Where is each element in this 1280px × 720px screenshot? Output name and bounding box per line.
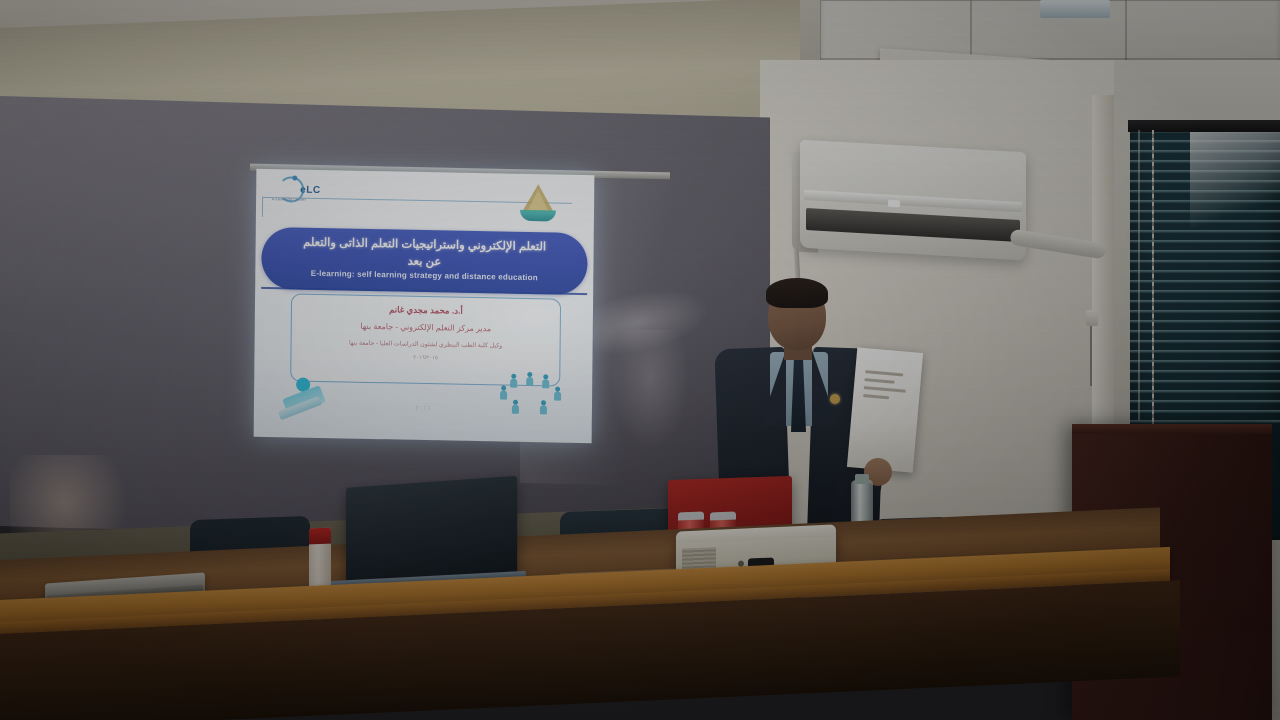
presenter-name: أ.د. محمد مجدي غانم [292, 302, 560, 318]
whiteboard-smudge [610, 330, 690, 450]
elc-logo-icon: eLC e-Learning Center [270, 175, 354, 209]
beverage-can-lid [309, 528, 331, 545]
wall-socket[interactable] [1086, 310, 1098, 326]
lecture-room-photo: eLC e-Learning Center التعلم الإلكتروني … [0, 0, 1280, 720]
blind-pull-cord[interactable] [1152, 130, 1154, 430]
benha-university-logo-icon [518, 182, 558, 225]
elc-logo-text: eLC [300, 185, 321, 196]
presenter-affiliation: وكيل كلية الطب البيطري لشئون الدراسات ال… [292, 338, 560, 350]
bottle-cap [855, 474, 869, 484]
group-of-people-icon [492, 373, 573, 433]
window-daylight-glare [1190, 124, 1280, 234]
presenter-role: مدير مركز التعلم الإلكتروني - جامعة بنها [292, 320, 560, 334]
printed-document [847, 347, 923, 472]
slide-presenter-box: أ.د. محمد مجدي غانم مدير مركز التعلم الإ… [290, 293, 561, 386]
wall-cable [1090, 326, 1092, 386]
lectern-top-edge [1072, 424, 1272, 434]
blind-ladder-cord [1138, 130, 1140, 420]
slide-title-band: التعلم الإلكتروني واستراتيجيات التعلم ال… [261, 227, 588, 295]
presenter-extra: ٢٠١٦/٢٠١٥ [291, 352, 559, 363]
ceiling-light [1040, 0, 1110, 18]
hair [766, 278, 828, 308]
air-conditioner-indicator [888, 200, 900, 208]
lapel-pin-icon [830, 394, 840, 404]
slide-header-rule-tick [262, 197, 263, 217]
projected-slide: eLC e-Learning Center التعلم الإلكتروني … [254, 169, 595, 443]
blind-headrail [1128, 120, 1280, 132]
